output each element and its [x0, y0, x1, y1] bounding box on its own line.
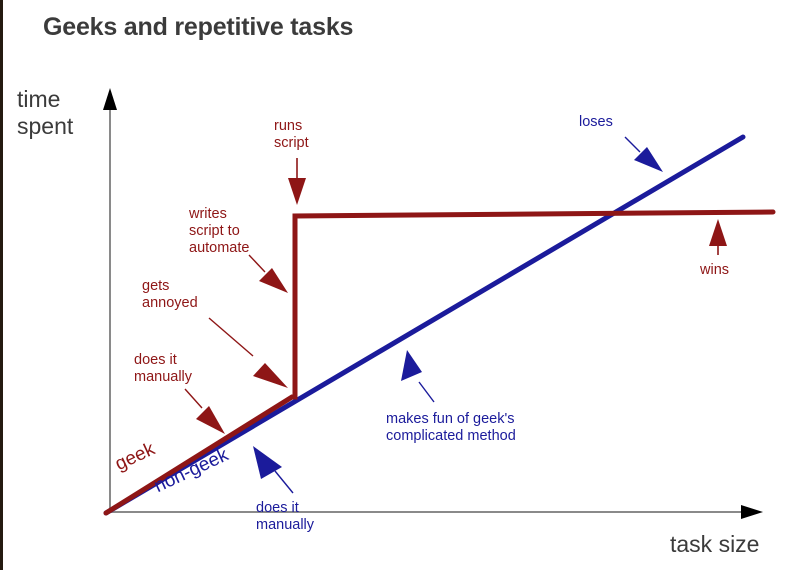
annotation-gets-annoyed: gets annoyed: [142, 278, 198, 312]
chart-drawing: [3, 0, 801, 570]
annotation-does-it-manually-geek: does it manually: [134, 352, 192, 386]
arrow-runs-script: [288, 158, 306, 205]
annotation-makes-fun-of-geeks-complicated-method: makes fun of geek's complicated method: [386, 411, 516, 445]
annotation-runs-script: runs script: [274, 118, 309, 152]
annotation-writes-script-to-automate: writes script to automate: [189, 206, 249, 257]
chart-canvas: Geeks and repetitive tasks time spent ta…: [0, 0, 801, 570]
arrow-writes-script: [249, 255, 288, 293]
y-axis-arrowhead: [103, 88, 117, 110]
arrow-makes-fun: [401, 350, 434, 402]
page-title: Geeks and repetitive tasks: [43, 13, 353, 43]
annotation-loses: loses: [579, 114, 613, 131]
x-axis-label: task size: [670, 531, 759, 558]
y-axis: [103, 88, 117, 512]
arrow-wins: [709, 219, 727, 255]
x-axis-arrowhead: [741, 505, 763, 519]
annotation-wins: wins: [700, 262, 729, 279]
arrow-gets-annoyed: [209, 318, 288, 388]
y-axis-label: time spent: [17, 86, 73, 140]
arrow-does-it-manually-nongeek: [253, 446, 293, 493]
arrow-does-it-manually-geek: [185, 389, 225, 434]
x-axis: [108, 505, 763, 519]
annotation-does-it-manually-non-geek: does it manually: [256, 500, 314, 534]
arrow-loses: [625, 137, 663, 172]
